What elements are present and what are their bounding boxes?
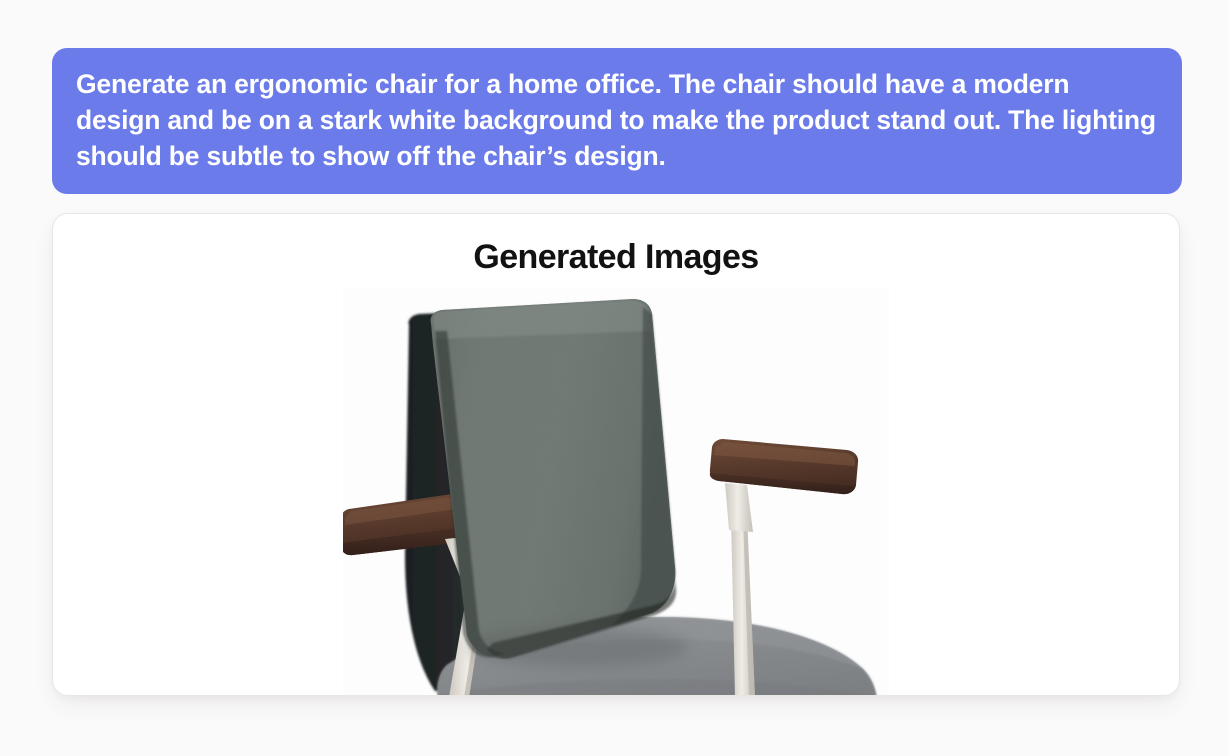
prompt-bubble: Generate an ergonomic chair for a home o…: [52, 48, 1182, 194]
image-gallery: [53, 287, 1179, 696]
prompt-text: Generate an ergonomic chair for a home o…: [76, 66, 1158, 174]
page-title: Generated Images: [53, 214, 1179, 277]
generated-images-card: Generated Images: [52, 213, 1180, 696]
ergonomic-chair-image: [343, 287, 889, 696]
generated-image-tile[interactable]: [343, 287, 889, 696]
